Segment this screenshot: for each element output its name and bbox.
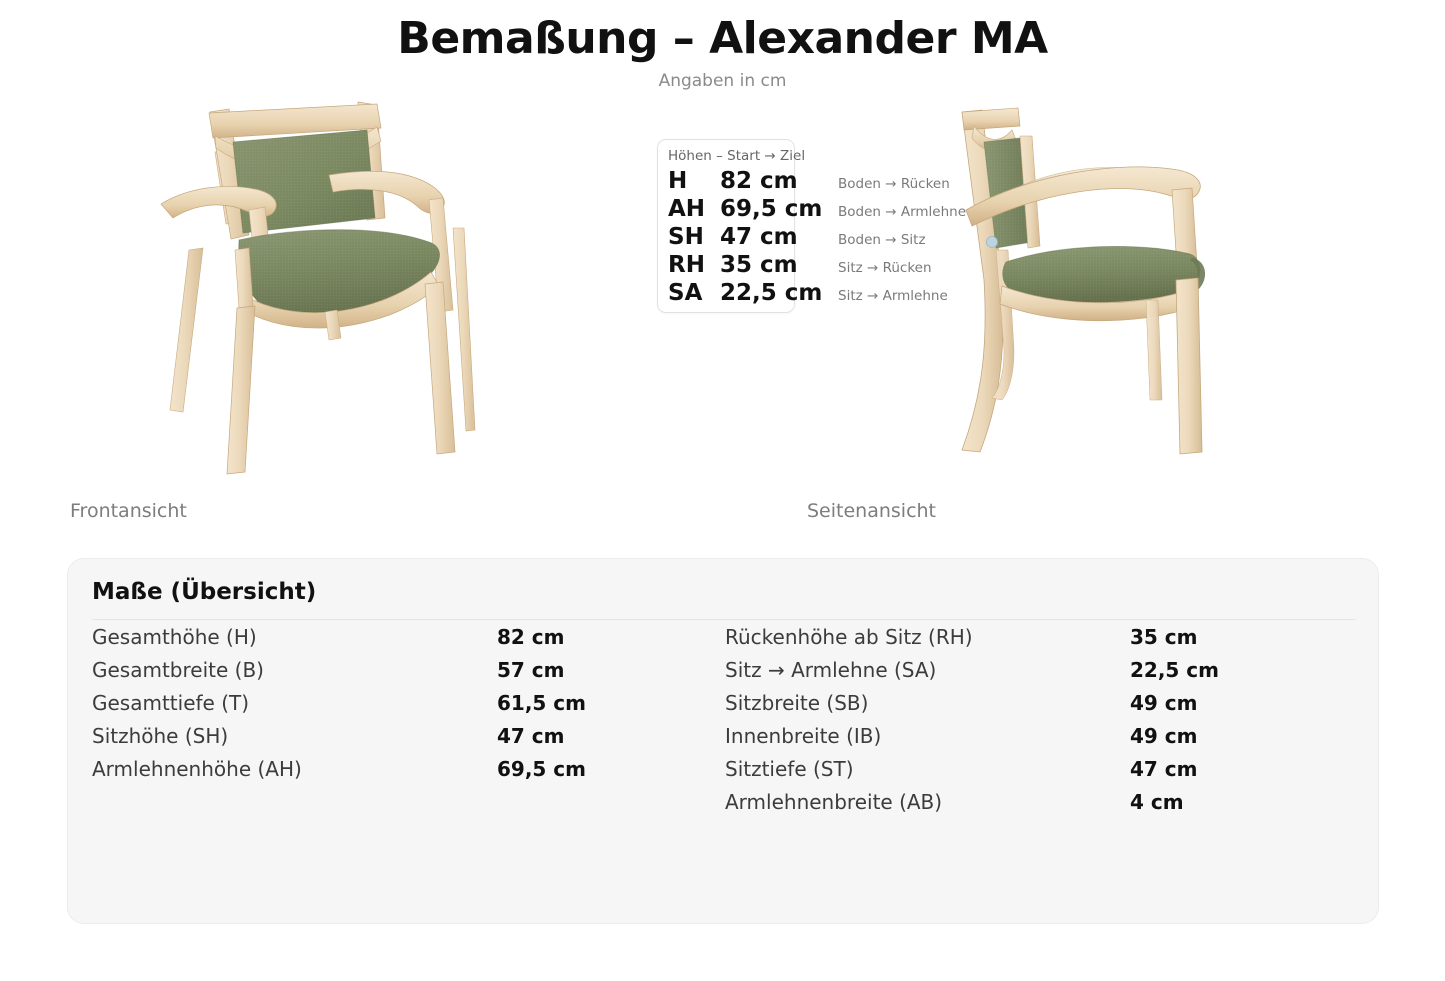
measurement-value: 69,5 cm: [497, 757, 586, 781]
measurement-row: Sitzbreite (SB) 49 cm: [725, 691, 1358, 724]
measurement-label: Gesamttiefe (T): [92, 691, 497, 715]
measurement-value: 22,5 cm: [1130, 658, 1219, 682]
front-view-caption: Frontansicht: [70, 500, 187, 522]
measurement-label: Sitztiefe (ST): [725, 757, 1130, 781]
measurement-row: Sitztiefe (ST) 47 cm: [725, 757, 1358, 790]
measurement-value: 47 cm: [497, 724, 565, 748]
measurement-row: Gesamtbreite (B) 57 cm: [92, 658, 725, 691]
legend-description: Sitz → Rücken: [838, 260, 932, 276]
legend-value: 35 cm: [720, 252, 832, 278]
front-view-image: [153, 100, 548, 495]
legend-row: RH 35 cm Sitz → Rücken: [668, 252, 966, 280]
legend-code: AH: [668, 196, 720, 222]
legend-row: SA 22,5 cm Sitz → Armlehne: [668, 280, 966, 308]
measurement-label: Armlehnenbreite (AB): [725, 790, 1130, 814]
measurement-row: Gesamttiefe (T) 61,5 cm: [92, 691, 725, 724]
measurement-label: Rückenhöhe ab Sitz (RH): [725, 625, 1130, 649]
chair-front-illustration: [153, 100, 548, 495]
measurement-label: Sitzbreite (SB): [725, 691, 1130, 715]
legend-description: Boden → Sitz: [838, 232, 926, 248]
measurements-columns: Gesamthöhe (H) 82 cm Gesamtbreite (B) 57…: [92, 625, 1358, 823]
measurements-right-column: Rückenhöhe ab Sitz (RH) 35 cm Sitz → Arm…: [725, 625, 1358, 823]
measurement-value: 49 cm: [1130, 691, 1198, 715]
measurement-row: Sitz → Armlehne (SA) 22,5 cm: [725, 658, 1358, 691]
measurement-value: 35 cm: [1130, 625, 1198, 649]
measurement-label: Innenbreite (IB): [725, 724, 1130, 748]
page-subtitle: Angaben in cm: [0, 71, 1445, 91]
page-title: Bemaßung – Alexander MA: [0, 14, 1445, 65]
heights-legend-content: Höhen – Start → Ziel H 82 cm Boden → Rüc…: [657, 139, 966, 308]
legend-code: SH: [668, 224, 720, 250]
heights-legend: Höhen – Start → Ziel H 82 cm Boden → Rüc…: [657, 139, 1445, 319]
measurement-value: 47 cm: [1130, 757, 1198, 781]
measurement-value: 57 cm: [497, 658, 565, 682]
card-divider: [92, 619, 1356, 620]
measurement-label: Sitzhöhe (SH): [92, 724, 497, 748]
measurement-label: Sitz → Armlehne (SA): [725, 658, 1130, 682]
measurement-value: 4 cm: [1130, 790, 1184, 814]
legend-value: 69,5 cm: [720, 196, 832, 222]
measurement-row: Armlehnenhöhe (AH) 69,5 cm: [92, 757, 725, 790]
measurement-label: Gesamtbreite (B): [92, 658, 497, 682]
side-view-caption: Seitenansicht: [807, 500, 936, 522]
measurements-left-column: Gesamthöhe (H) 82 cm Gesamtbreite (B) 57…: [92, 625, 725, 823]
measurement-value: 82 cm: [497, 625, 565, 649]
legend-value: 22,5 cm: [720, 280, 832, 306]
legend-row: H 82 cm Boden → Rücken: [668, 168, 966, 196]
page-header: Bemaßung – Alexander MA Angaben in cm: [0, 14, 1445, 91]
measurement-label: Gesamthöhe (H): [92, 625, 497, 649]
measurement-value: 49 cm: [1130, 724, 1198, 748]
legend-description: Boden → Rücken: [838, 176, 950, 192]
measurement-row: Rückenhöhe ab Sitz (RH) 35 cm: [725, 625, 1358, 658]
legend-description: Sitz → Armlehne: [838, 288, 948, 304]
measurement-label: Armlehnenhöhe (AH): [92, 757, 497, 781]
measurement-row: Sitzhöhe (SH) 47 cm: [92, 724, 725, 757]
legend-code: RH: [668, 252, 720, 278]
measurement-row: Armlehnenbreite (AB) 4 cm: [725, 790, 1358, 823]
legend-code: SA: [668, 280, 720, 306]
legend-row: SH 47 cm Boden → Sitz: [668, 224, 966, 252]
legend-description: Boden → Armlehne: [838, 204, 966, 220]
legend-row: AH 69,5 cm Boden → Armlehne: [668, 196, 966, 224]
measurement-row: Gesamthöhe (H) 82 cm: [92, 625, 725, 658]
measurements-card-title: Maße (Übersicht): [92, 579, 316, 605]
legend-value: 47 cm: [720, 224, 832, 250]
heights-legend-heading: Höhen – Start → Ziel: [668, 148, 966, 164]
measurements-card: Maße (Übersicht) Gesamthöhe (H) 82 cm Ge…: [67, 558, 1379, 924]
legend-code: H: [668, 168, 720, 194]
measurement-value: 61,5 cm: [497, 691, 586, 715]
legend-value: 82 cm: [720, 168, 832, 194]
measurement-row: Innenbreite (IB) 49 cm: [725, 724, 1358, 757]
